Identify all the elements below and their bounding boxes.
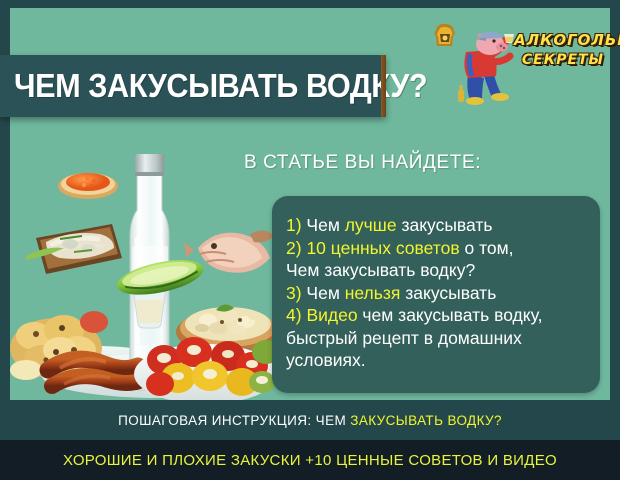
brand-line-2: СЕКРЕТЫ (514, 50, 612, 70)
bottom-tagline-text: ХОРОШИЕ И ПЛОХИЕ ЗАКУСКИ +10 ЦЕННЫЕ СОВЕ… (63, 452, 557, 469)
step-instruction-bar: ПОШАГОВАЯ ИНСТРУКЦИЯ: ЧЕМ ЗАКУСЫВАТЬ ВОД… (0, 400, 620, 440)
step-instruction-white: ПОШАГОВАЯ ИНСТРУКЦИЯ: ЧЕМ (118, 413, 350, 428)
food-collage-svg (10, 128, 280, 400)
title-banner: ЧЕМ ЗАКУСЫВАТЬ ВОДКУ? (0, 55, 386, 117)
list-item: 3) Чем нельзя закусывать (286, 282, 600, 305)
list-item: 4) Видео чем закусывать водку, (286, 304, 600, 327)
list-item-pre: быстрый рецепт в домашних (286, 328, 522, 348)
banner-edge-stripe (381, 55, 386, 117)
find-heading: В СТАТЬЕ ВЫ НАЙДЕТЕ: (244, 152, 481, 174)
page-title: ЧЕМ ЗАКУСЫВАТЬ ВОДКУ? (14, 67, 427, 105)
list-item-number: 1) (286, 215, 302, 235)
list-item-pre: условиях. (286, 350, 366, 370)
list-item: 1) Чем лучше закусывать (286, 214, 600, 237)
step-instruction-highlight: ЗАКУСЫВАТЬ ВОДКУ? (350, 413, 502, 428)
brand-logo[interactable]: АЛКОГОЛЬНЫЕ СЕКРЕТЫ (428, 16, 612, 108)
brand-wordmark: АЛКОГОЛЬНЫЕ СЕКРЕТЫ (514, 30, 612, 70)
list-item-continuation: Чем закусывать водку? (286, 259, 600, 282)
list-item-pre: Чем (302, 283, 345, 303)
food-collage (10, 128, 280, 400)
list-item-continuation: условиях. (286, 349, 600, 372)
poster-root: ЧЕМ ЗАКУСЫВАТЬ ВОДКУ? (0, 0, 620, 480)
article-contents-list: 1) Чем лучше закусывать 2) 10 ценных сов… (272, 196, 600, 372)
list-item-highlight: лучше (345, 215, 397, 235)
list-item-highlight: 10 ценных советов (306, 238, 459, 258)
list-item-post: о том, (460, 238, 514, 258)
list-item-number: 2) (286, 238, 302, 258)
list-item-pre: Чем закусывать водку? (286, 260, 475, 280)
list-item-post: чем закусывать водку, (358, 305, 543, 325)
drinking-pig-mascot-icon (452, 28, 514, 108)
list-item: 2) 10 ценных советов о том, (286, 237, 600, 260)
list-item-pre: Чем (302, 215, 345, 235)
bottom-tagline-bar: ХОРОШИЕ И ПЛОХИЕ ЗАКУСКИ +10 ЦЕННЫЕ СОВЕ… (0, 440, 620, 480)
list-item-continuation: быстрый рецепт в домашних (286, 327, 600, 350)
list-item-number: 4) (286, 305, 302, 325)
list-item-post: закусывать (400, 283, 496, 303)
brand-line-1: АЛКОГОЛЬНЫЕ (514, 31, 620, 49)
article-contents-box: 1) Чем лучше закусывать 2) 10 ценных сов… (272, 196, 600, 393)
step-instruction-text: ПОШАГОВАЯ ИНСТРУКЦИЯ: ЧЕМ ЗАКУСЫВАТЬ ВОД… (118, 413, 502, 428)
list-item-number: 3) (286, 283, 302, 303)
list-item-post: закусывать (397, 215, 493, 235)
list-item-highlight: Видео (306, 305, 357, 325)
list-item-highlight: нельзя (345, 283, 401, 303)
